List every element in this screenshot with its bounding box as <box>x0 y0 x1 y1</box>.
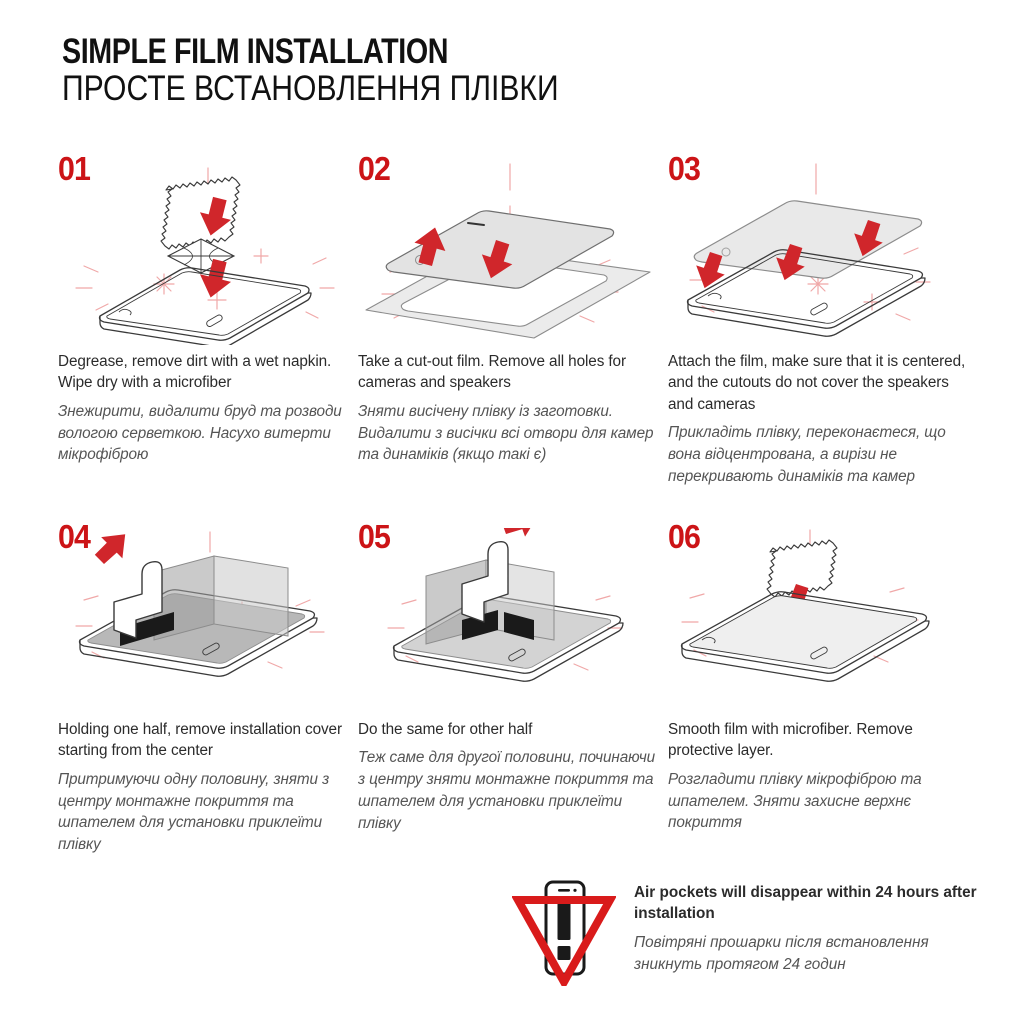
step-caption-en: Attach the film, make sure that it is ce… <box>668 351 968 415</box>
page-title-en: SIMPLE FILM INSTALLATION <box>62 34 800 70</box>
step-03: 03 <box>668 152 968 487</box>
step-06: 06 <box>668 520 968 834</box>
step-05: 05 <box>358 520 658 834</box>
step-caption-en: Do the same for other half <box>358 719 658 740</box>
warning-text-block: Air pockets will disappear within 24 hou… <box>634 872 982 975</box>
step-illustration-film-onto-phone-arrows <box>668 160 968 345</box>
step-04: 04 <box>58 520 358 856</box>
step-02: 02 <box>358 152 658 466</box>
step-caption-en: Degrease, remove dirt with a wet napkin.… <box>58 351 358 394</box>
step-illustration-cutout-film-sheet <box>358 160 658 345</box>
step-01: 01 <box>58 152 358 466</box>
step-caption-uk: Зняти висічену плівку із заготовки. Вида… <box>358 401 658 466</box>
step-caption-en: Take a cut-out film. Remove all holes fo… <box>358 351 658 394</box>
warning-callout: Air pockets will disappear within 24 hou… <box>512 872 982 986</box>
step-illustration-hand-peel-right-half <box>358 528 658 713</box>
warning-text-en: Air pockets will disappear within 24 hou… <box>634 882 982 925</box>
step-illustration-smooth-with-microfiber <box>668 528 968 713</box>
step-caption-uk: Прикладіть плівку, переконаєтеся, що вон… <box>668 422 968 487</box>
page-header: SIMPLE FILM INSTALLATION ПРОСТЕ ВСТАНОВЛ… <box>62 34 962 107</box>
step-caption-en: Smooth film with microfiber. Remove prot… <box>668 719 968 762</box>
step-caption-en: Holding one half, remove installation co… <box>58 719 358 762</box>
step-caption-uk: Знежирити, видалити бруд та розводи воло… <box>58 401 358 466</box>
step-illustration-microfiber-cloth-napkin-phone <box>58 160 358 345</box>
step-illustration-hand-peel-left-half <box>58 528 358 713</box>
step-caption-uk: Розгладити плівку мікрофіброю та шпателе… <box>668 769 968 834</box>
warning-text-uk: Повітряні прошарки після встановлення зн… <box>634 932 982 975</box>
page-title-uk: ПРОСТЕ ВСТАНОВЛЕННЯ ПЛІВКИ <box>62 71 836 108</box>
step-caption-uk: Притримуючи одну половину, зняти з центр… <box>58 769 358 856</box>
step-caption-uk: Теж саме для другої половини, починаючи … <box>358 747 658 834</box>
warning-triangle-phone-exclamation-icon <box>512 874 616 986</box>
